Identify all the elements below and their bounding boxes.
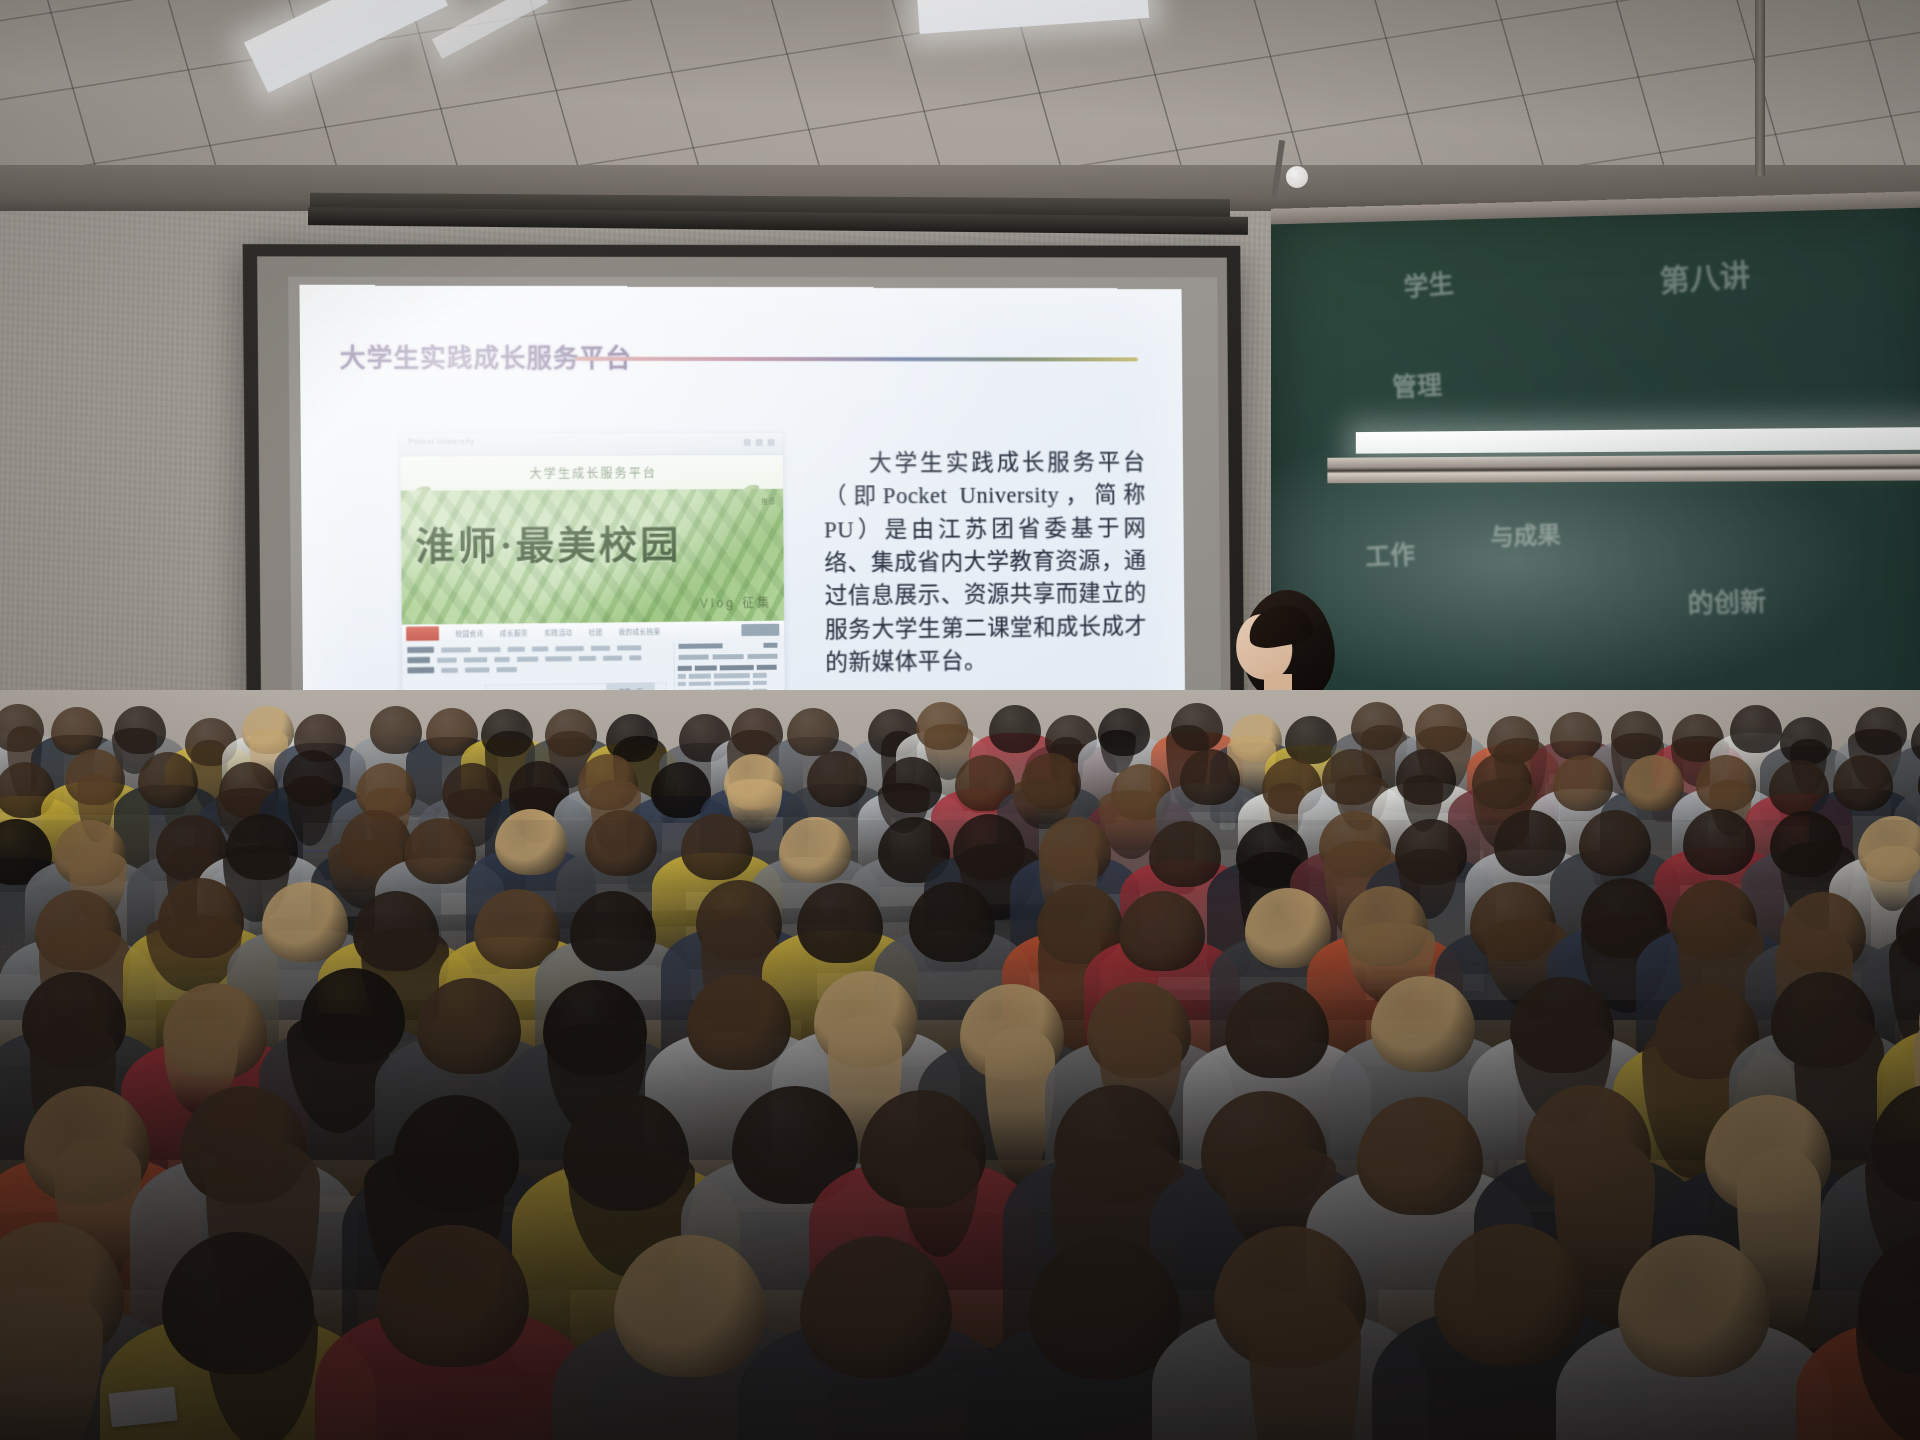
site-hero-banner: 推荐 淮师·最美校园 Vlog 征集	[401, 489, 784, 625]
sidebar-tab-0	[679, 655, 709, 660]
sidebar-title	[678, 643, 722, 649]
slide-body-paragraph: 大学生实践成长服务平台（即Pocket University，简称PU）是由江苏…	[823, 446, 1147, 680]
filter-menu	[407, 644, 641, 677]
student-head	[1285, 716, 1337, 764]
lecture-hall-photo: 第八讲学生管理工作的创新实践与成果成是 大学生实践成长服务平台 Pocket U…	[0, 0, 1920, 1440]
filter-row	[407, 644, 641, 653]
site-header-title: 大学生成长服务平台	[529, 464, 657, 482]
sidebar-tab-1	[713, 654, 743, 659]
audience-shadow-gradient	[0, 820, 1920, 1440]
site-header-bar: 大学生成长服务平台	[400, 455, 783, 491]
filter-label	[407, 667, 434, 673]
nav-item-0: 校园资讯	[455, 628, 483, 638]
browser-url-text: Pocket University	[409, 439, 475, 446]
ranking-table-row-1	[678, 681, 779, 687]
minimize-icon	[744, 439, 751, 446]
audience-area	[0, 690, 1920, 1440]
chalk-text-0: 第八讲	[1658, 250, 1751, 301]
sidebar-more-link	[763, 643, 777, 648]
ranking-table-row-0	[678, 673, 779, 679]
filter-label	[407, 647, 433, 653]
nav-item-4: 我的成长档案	[619, 626, 661, 637]
chalkboard-fluorescent-light	[1356, 427, 1920, 454]
student-head	[1180, 749, 1240, 805]
banner-title: 淮师·最美校园	[415, 513, 777, 571]
chalk-text-2: 管理	[1391, 365, 1442, 404]
student-head	[1553, 755, 1613, 811]
sidebar-tab-2	[747, 654, 777, 659]
wall-pipe	[1755, 0, 1765, 176]
close-icon	[768, 439, 775, 446]
filter-label	[407, 657, 430, 663]
student-head	[51, 707, 103, 755]
browser-chrome-bar: Pocket University	[400, 433, 782, 456]
chalk-text-4: 的创新	[1687, 581, 1767, 621]
maximize-icon	[756, 439, 763, 446]
banner-subtitle: Vlog 征集	[700, 594, 772, 612]
nav-home-button	[406, 626, 439, 641]
chalk-text-6: 与成果	[1490, 515, 1561, 552]
hanging-bulb-icon	[1286, 166, 1308, 188]
browser-window-buttons	[744, 439, 775, 446]
chalk-text-3: 工作	[1364, 535, 1415, 574]
sidebar-tabs	[675, 650, 782, 664]
nav-item-3: 社团	[588, 627, 602, 637]
student-head	[989, 705, 1041, 753]
filter-row	[407, 654, 641, 663]
student-head	[787, 708, 839, 756]
student-head	[1730, 705, 1782, 753]
slide-title-rule	[575, 357, 1138, 362]
chalkboard-middle-rail	[1327, 454, 1920, 484]
nav-item-1: 成长服务	[500, 627, 528, 637]
filter-row	[407, 664, 641, 673]
chalk-text-1: 学生	[1402, 263, 1454, 304]
student-head	[1833, 755, 1893, 811]
student-head	[807, 751, 867, 807]
nav-item-2: 实践活动	[544, 627, 572, 637]
ranking-table-header	[678, 665, 779, 671]
banner-tag: 推荐	[761, 497, 775, 507]
nav-login-button	[741, 624, 779, 636]
